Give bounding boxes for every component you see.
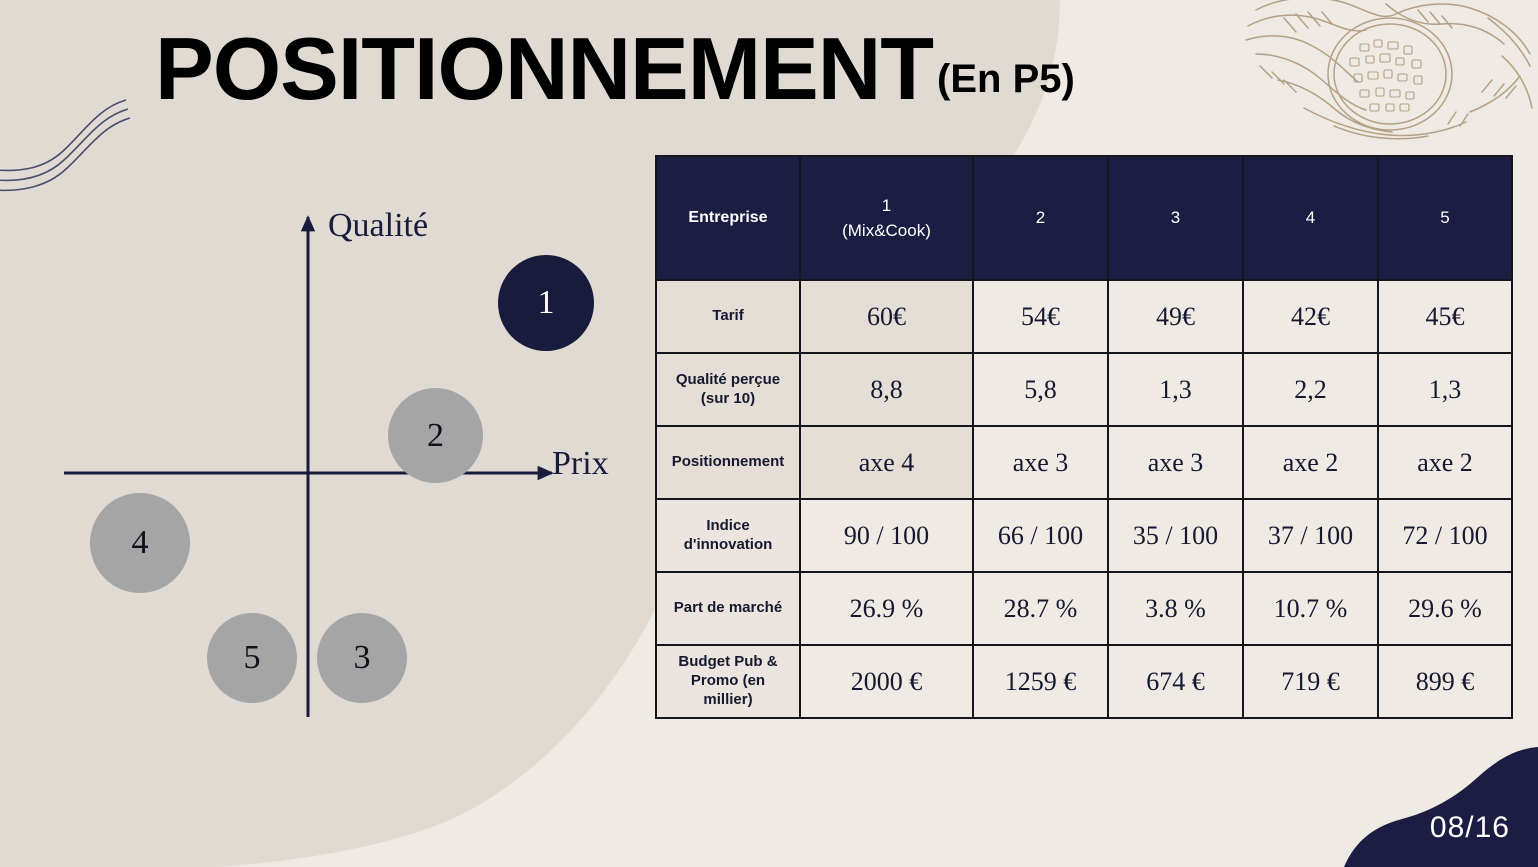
row-label: Tarif bbox=[656, 280, 800, 353]
table-header-company-5: 5 bbox=[1378, 156, 1512, 280]
map-bubble-4[interactable]: 4 bbox=[90, 493, 190, 593]
table-cell: axe 4 bbox=[800, 426, 973, 499]
table-cell: 8,8 bbox=[800, 353, 973, 426]
table-cell: 10.7 % bbox=[1243, 572, 1378, 645]
table-cell: 90 / 100 bbox=[800, 499, 973, 572]
table-header-company-2: 2 bbox=[973, 156, 1108, 280]
table-cell: 37 / 100 bbox=[1243, 499, 1378, 572]
table-cell: 719 € bbox=[1243, 645, 1378, 718]
table-cell: 3.8 % bbox=[1108, 572, 1243, 645]
slide-canvas: POSITIONNEMENT (En P5) Qualité Prix 1 2 … bbox=[0, 0, 1538, 867]
wave-lines-decoration bbox=[0, 100, 130, 190]
table-cell: 42€ bbox=[1243, 280, 1378, 353]
table-row: Tarif60€54€49€42€45€ bbox=[656, 280, 1512, 353]
company-1-number: 1 bbox=[801, 193, 972, 219]
table-cell: axe 3 bbox=[1108, 426, 1243, 499]
table-row: Indiced'innovation90 / 10066 / 10035 / 1… bbox=[656, 499, 1512, 572]
table-cell: axe 3 bbox=[973, 426, 1108, 499]
y-axis-label: Qualité bbox=[328, 207, 428, 245]
title-block: POSITIONNEMENT (En P5) bbox=[155, 26, 1075, 112]
map-bubble-3[interactable]: 3 bbox=[317, 613, 407, 703]
table-cell: 72 / 100 bbox=[1378, 499, 1512, 572]
competitor-comparison-table: Entreprise 1 (Mix&Cook) 2 3 4 5 Ta bbox=[655, 155, 1513, 719]
table-cell: 66 / 100 bbox=[973, 499, 1108, 572]
company-4-number: 4 bbox=[1244, 205, 1377, 231]
page-badge-blob bbox=[1318, 747, 1538, 867]
row-label: Indiced'innovation bbox=[656, 499, 800, 572]
table-row: Part de marché26.9 %28.7 %3.8 %10.7 %29.… bbox=[656, 572, 1512, 645]
table-row: Positionnementaxe 4axe 3axe 3axe 2axe 2 bbox=[656, 426, 1512, 499]
row-label: Qualité perçue(sur 10) bbox=[656, 353, 800, 426]
table-cell: 899 € bbox=[1378, 645, 1512, 718]
table-cell: 5,8 bbox=[973, 353, 1108, 426]
page-subtitle: (En P5) bbox=[937, 57, 1075, 112]
map-bubble-2[interactable]: 2 bbox=[388, 388, 483, 483]
table-body: Tarif60€54€49€42€45€Qualité perçue(sur 1… bbox=[656, 280, 1512, 718]
table-cell: 2,2 bbox=[1243, 353, 1378, 426]
table-cell: 28.7 % bbox=[973, 572, 1108, 645]
company-2-number: 2 bbox=[974, 205, 1107, 231]
table-header-entreprise: Entreprise bbox=[656, 156, 800, 280]
food-illustration-icon bbox=[1238, 0, 1538, 146]
company-3-number: 3 bbox=[1109, 205, 1242, 231]
table-cell: 1,3 bbox=[1108, 353, 1243, 426]
table-row: Budget Pub &Promo (enmillier)2000 €1259 … bbox=[656, 645, 1512, 718]
row-label: Part de marché bbox=[656, 572, 800, 645]
row-label: Positionnement bbox=[656, 426, 800, 499]
table-header-company-1: 1 (Mix&Cook) bbox=[800, 156, 973, 280]
table-header: Entreprise 1 (Mix&Cook) 2 3 4 5 bbox=[656, 156, 1512, 280]
table-cell: 49€ bbox=[1108, 280, 1243, 353]
table-cell: 674 € bbox=[1108, 645, 1243, 718]
page-title: POSITIONNEMENT bbox=[155, 26, 933, 112]
x-axis-label: Prix bbox=[552, 445, 609, 483]
table-cell: 26.9 % bbox=[800, 572, 973, 645]
table-cell: 54€ bbox=[973, 280, 1108, 353]
table-cell: 1,3 bbox=[1378, 353, 1512, 426]
page-number: 08/16 bbox=[1430, 811, 1510, 845]
row-label: Budget Pub &Promo (enmillier) bbox=[656, 645, 800, 718]
company-5-number: 5 bbox=[1379, 205, 1511, 231]
table-cell: 29.6 % bbox=[1378, 572, 1512, 645]
table-header-row: Entreprise 1 (Mix&Cook) 2 3 4 5 bbox=[656, 156, 1512, 280]
table-row: Qualité perçue(sur 10)8,85,81,32,21,3 bbox=[656, 353, 1512, 426]
map-bubble-5[interactable]: 5 bbox=[207, 613, 297, 703]
map-bubble-1[interactable]: 1 bbox=[498, 255, 594, 351]
table-cell: 1259 € bbox=[973, 645, 1108, 718]
table-cell: 2000 € bbox=[800, 645, 973, 718]
table-cell: axe 2 bbox=[1378, 426, 1512, 499]
company-1-name: (Mix&Cook) bbox=[801, 219, 972, 243]
table-cell: 60€ bbox=[800, 280, 973, 353]
table-cell: axe 2 bbox=[1243, 426, 1378, 499]
table-header-company-4: 4 bbox=[1243, 156, 1378, 280]
table-cell: 45€ bbox=[1378, 280, 1512, 353]
table-cell: 35 / 100 bbox=[1108, 499, 1243, 572]
table-header-company-3: 3 bbox=[1108, 156, 1243, 280]
positioning-map: Qualité Prix 1 2 3 4 5 bbox=[40, 195, 640, 735]
